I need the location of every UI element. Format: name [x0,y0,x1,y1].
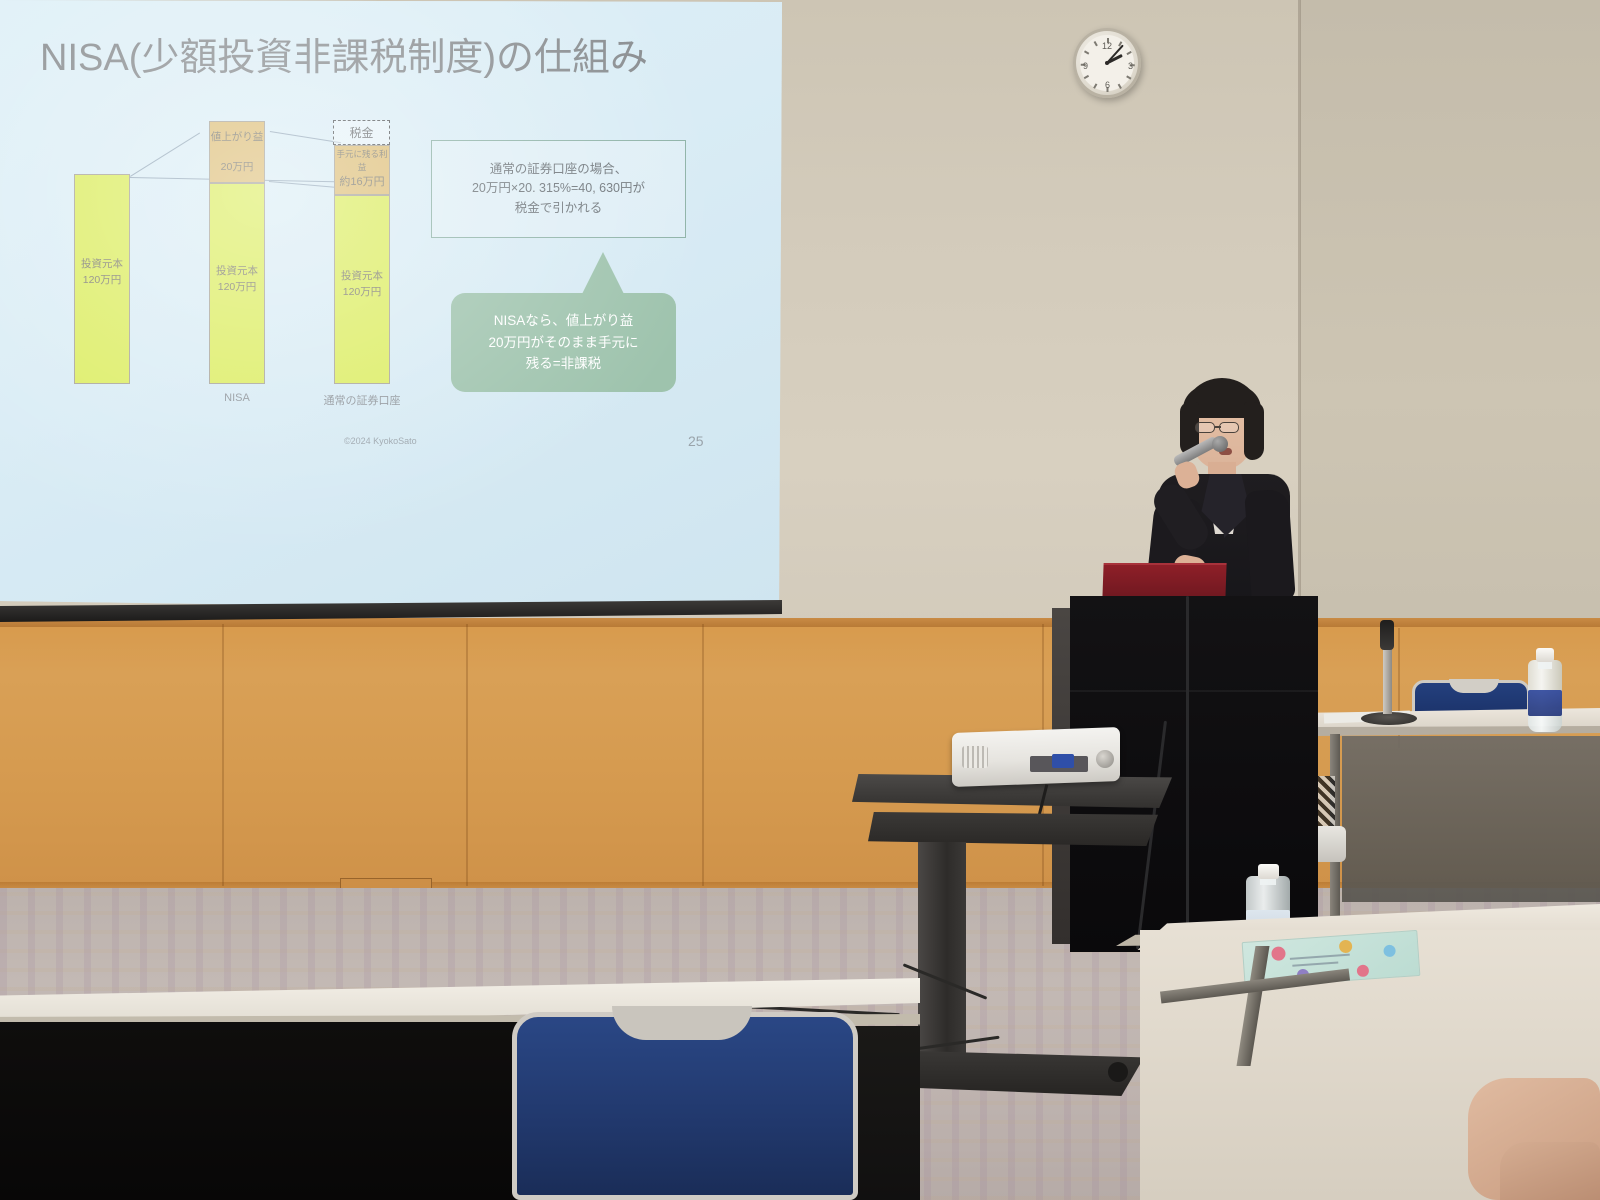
slide-credit: ©2024 KyokoSato [344,436,417,446]
slide-canvas: NISA(少額投資非課税制度)の仕組み 投資元本 120万円 値上がり益 20万… [0,0,782,606]
bar3-gain-label: 手元に残る利益 [333,148,391,174]
microphone-stand-pole [1383,648,1392,714]
av-cart-caster [1108,1062,1128,1082]
clock-numeral-9: 9 [1083,61,1088,71]
calc-line-2: 20万円×20. 315%=40, 630円が [472,179,645,198]
bar2-gain-label: 値上がり益 [207,131,267,144]
bubble-line-1: NISAなら、値上がり益 [488,310,638,332]
podium-cable [1186,596,1189,968]
bubble-line-2: 20万円がそのまま手元に [488,332,638,354]
bar3-gain-caption: 手元に残る利益 約16万円 [333,148,391,189]
bar1-series-label: 投資元本 [74,258,130,271]
presenter-hair-right [1244,402,1264,460]
bar3-value-label: 120万円 [334,286,390,299]
podium-seam [1070,690,1318,692]
connector-line-gain [270,131,341,143]
bar3-series-label: 投資元本 [334,270,390,283]
clock-numeral-3: 3 [1128,61,1133,71]
bar2-series-label: 投資元本 [209,265,265,278]
bar-label-regular: 通常の証券口座 [305,392,419,408]
audience-hand-lower [1500,1142,1600,1200]
wood-panel-seam [222,624,224,886]
front-left-table-front-panel [0,1022,550,1200]
screen-surface: NISA(少額投資非課税制度)の仕組み 投資元本 120万円 値上がり益 20万… [0,0,782,612]
bar1-caption: 投資元本 120万円 [74,258,130,287]
projector-vga-connector [1052,754,1074,768]
bar2-caption: 投資元本 120万円 [209,265,265,294]
bar3-gain-value: 約16万円 [333,176,391,190]
projector-lens [1096,750,1114,768]
bar2-value-label: 120万円 [209,281,265,294]
blue-chair-handle-notch [612,1006,752,1040]
wood-panel-seam [466,624,468,886]
tax-dashed-box: 税金 [333,120,390,145]
wall-clock: 12 3 6 9 [1073,28,1141,98]
presenter-arm-right [1244,489,1296,604]
handheld-microphone-head [1212,436,1228,452]
bottle-cap [1536,648,1554,662]
side-wall [1300,0,1600,660]
bubble-text: NISAなら、値上がり益 20万円がそのまま手元に 残る=非課税 [488,310,638,375]
bar3-caption: 投資元本 120万円 [334,270,390,299]
bar-label-nisa: NISA [209,392,265,404]
av-cart-column [918,842,966,1064]
calc-callout-text: 通常の証券口座の場合、 20万円×20. 315%=40, 630円が 税金で引… [472,160,645,218]
eyeglasses-left-lens [1195,422,1215,433]
podium-top-surface [1102,563,1226,599]
av-cart-lower-shelf [868,812,1158,846]
bottle-label [1528,690,1562,716]
slide-page-number: 25 [688,433,704,449]
bar1-value-label: 120万円 [74,274,130,287]
projection-screen: NISA(少額投資非課税制度)の仕組み 投資元本 120万円 値上がり益 20万… [0,0,782,632]
back-right-table-modesty-panel [1342,736,1600,902]
slide-title: NISA(少額投資非課税制度)の仕組み [40,26,740,81]
screen-bottom-bar [0,600,782,622]
clock-numeral-6: 6 [1105,80,1110,90]
calc-line-1: 通常の証券口座の場合、 [472,160,645,179]
microphone-stand-head [1380,620,1394,650]
eyeglasses-right-lens [1219,422,1239,433]
clock-face: 12 3 6 9 [1080,35,1134,91]
bar2-gain-caption: 値上がり益 20万円 [207,131,267,174]
nisa-speech-bubble: NISAなら、値上がり益 20万円がそのまま手元に 残る=非課税 [451,293,676,392]
screenshot-stage: 12 3 6 9 NISA(少額投資非課税制度)の仕組み 投資元本 120万円 [0,0,1600,1200]
clock-center-pin [1105,61,1109,65]
calc-callout-box: 通常の証券口座の場合、 20万円×20. 315%=40, 630円が 税金で引… [431,140,686,238]
blue-chair-front [512,1012,858,1200]
bubble-line-3: 残る=非課税 [488,353,638,375]
clock-numeral-12: 12 [1102,41,1112,51]
water-bottle-back-table [1528,660,1562,732]
projector-vent [962,746,988,768]
bar2-gain-value: 20万円 [207,161,267,174]
eyeglasses-bridge [1215,426,1221,428]
calc-line-3: 税金で引かれる [472,199,645,218]
bubble-tail [580,252,626,298]
connector-line-upper [130,133,200,177]
wood-panel-seam [702,624,704,886]
